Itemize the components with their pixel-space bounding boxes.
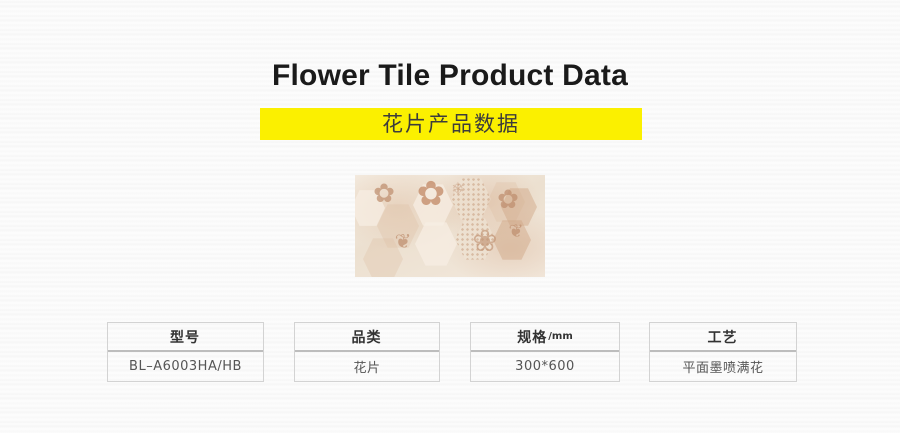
spec-card-size: 规格 /mm 300*600	[470, 322, 620, 382]
spec-header-size-unit: /mm	[548, 331, 573, 342]
spec-header-category: 品类	[295, 323, 439, 352]
spec-value-size: 300*600	[471, 352, 619, 381]
spec-header-size: 规格 /mm	[471, 323, 619, 352]
spec-card-model: 型号 BL–A6003HA/HB	[107, 322, 264, 382]
product-tile-image: ✿ ❦ ❀ ✿ ❦ ❄ ✿	[355, 175, 545, 277]
page-root: Flower Tile Product Data 花片产品数据 ✿ ❦ ❀ ✿ …	[0, 0, 900, 433]
tile-ornament: ✿	[483, 187, 533, 213]
spec-header-category-label: 品类	[352, 327, 382, 347]
spec-header-model-label: 型号	[170, 327, 200, 347]
page-title-highlight-bar: 花片产品数据	[260, 108, 642, 140]
spec-card-process: 工艺 平面墨喷满花	[649, 322, 797, 382]
spec-card-category: 品类 花片	[294, 322, 440, 382]
tile-ribbon-bow: ✿	[403, 177, 459, 211]
spec-value-model: BL–A6003HA/HB	[108, 352, 263, 381]
spec-header-size-label: 规格	[517, 327, 547, 347]
page-title-english: Flower Tile Product Data	[0, 58, 900, 94]
spec-value-process: 平面墨喷满花	[650, 352, 796, 381]
spec-table: 型号 BL–A6003HA/HB 品类 花片 规格 /mm 300*600 工艺	[107, 322, 797, 384]
spec-header-process: 工艺	[650, 323, 796, 352]
spec-header-process-label: 工艺	[708, 327, 738, 347]
tile-ornament: ✿	[361, 181, 407, 207]
spec-header-model: 型号	[108, 323, 263, 352]
spec-value-category: 花片	[295, 352, 439, 381]
tile-ornament: ❦	[383, 231, 423, 251]
tile-ornament: ❦	[499, 223, 533, 241]
page-title-chinese: 花片产品数据	[382, 112, 520, 136]
